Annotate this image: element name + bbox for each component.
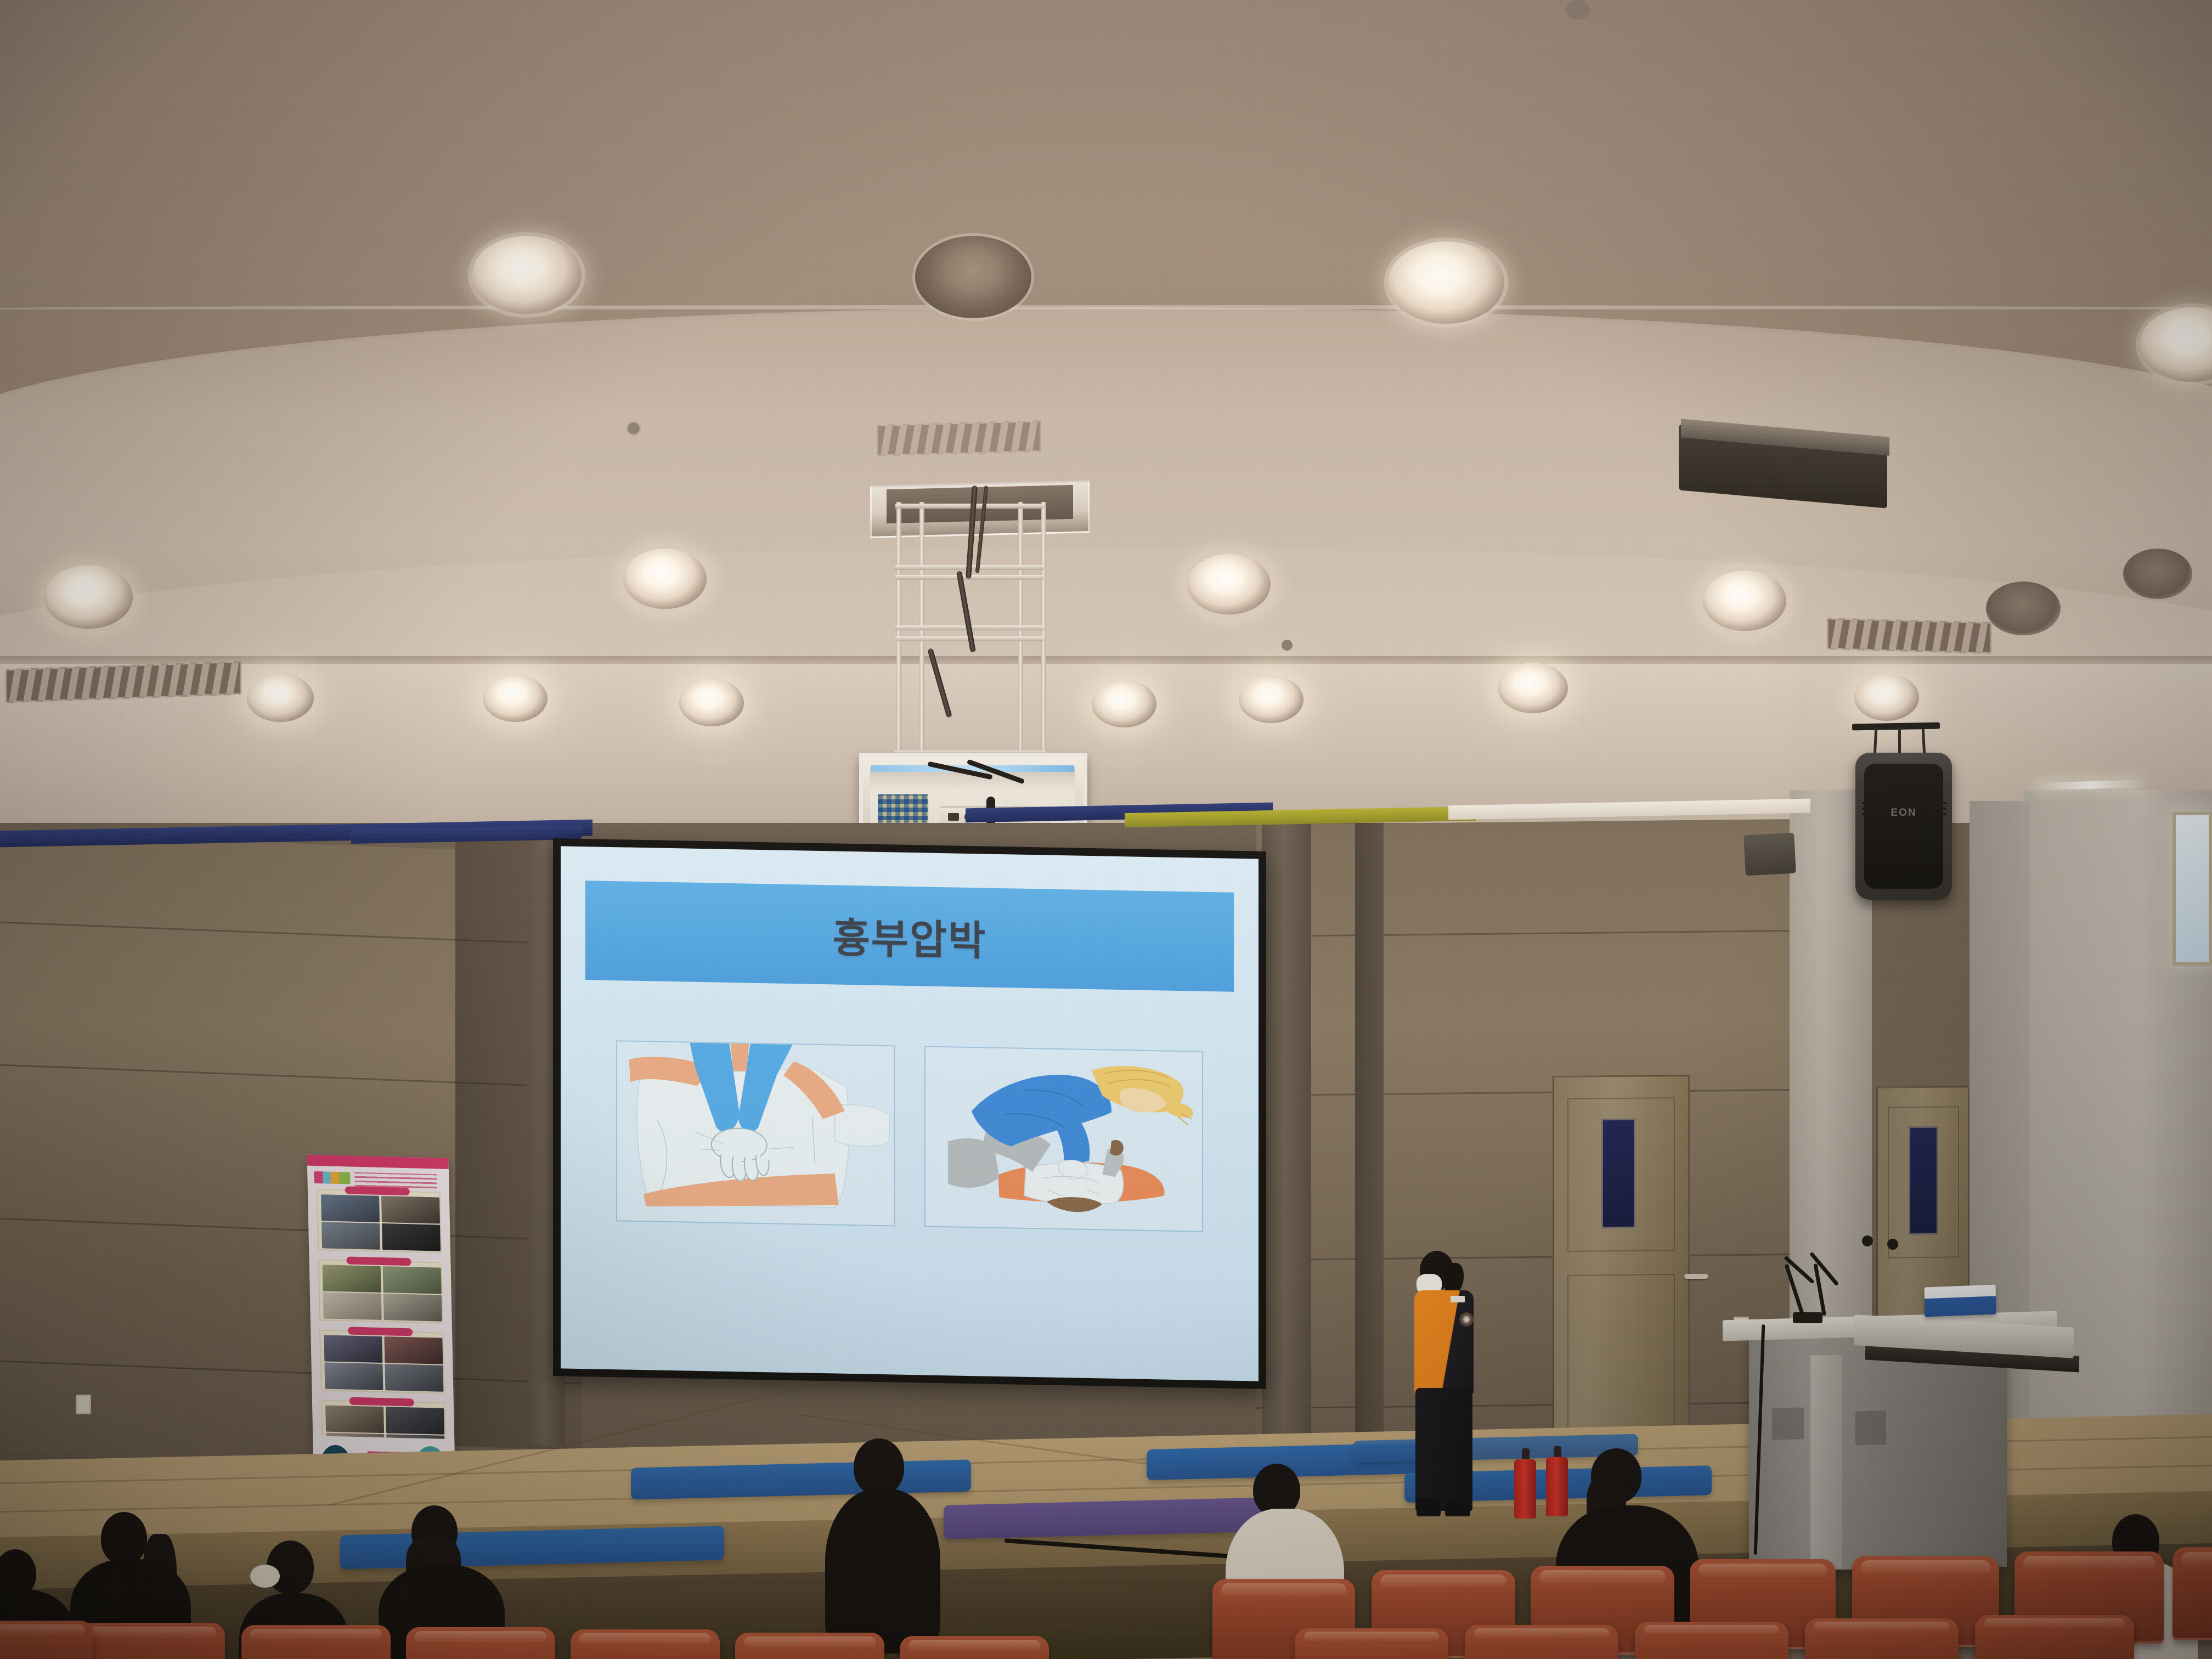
downlight-icon [1498, 663, 1568, 713]
auditorium-seat[interactable] [1465, 1625, 1618, 1659]
speaker-side-port [1862, 808, 1882, 810]
door-handle-icon[interactable] [1684, 1274, 1708, 1279]
downlight-icon [247, 674, 314, 722]
auditorium-seat[interactable] [2172, 1547, 2212, 1640]
speaker-side-port [1927, 813, 1946, 815]
auditorium-seat[interactable] [0, 1621, 93, 1659]
banner-section-tab [349, 1397, 414, 1407]
banner-section-tab [346, 1256, 411, 1266]
microphone-capsule [1862, 1235, 1873, 1246]
glove-box [1925, 1285, 1996, 1317]
instructor-trousers [1415, 1388, 1472, 1511]
ceiling-speaker-icon [915, 236, 1031, 318]
slide-title-text: 흉부압박 [833, 905, 986, 967]
banner-headline-text [354, 1172, 437, 1189]
microphone-base [1793, 1312, 1822, 1323]
auditorium-seat[interactable] [77, 1623, 225, 1659]
extinguisher-valve [1522, 1448, 1530, 1460]
student-torso [825, 1489, 940, 1654]
banner-photo [383, 1266, 442, 1294]
kneeling-rescuer-icon [926, 1047, 1203, 1231]
banner-photo [324, 1335, 382, 1363]
ceiling-soffit-edge [0, 305, 2212, 309]
speaker-side-port [1927, 802, 1946, 804]
banner-photo [383, 1294, 442, 1322]
wall-pillar-right-2 [1355, 823, 1384, 1454]
instructor-uniform-shirt [1414, 1290, 1474, 1395]
wall-pillar-right [1262, 823, 1311, 1454]
downlight-icon [483, 675, 548, 722]
downlight-icon [472, 236, 582, 314]
extinguisher-valve [1554, 1446, 1561, 1458]
door-vision-panel [1601, 1119, 1635, 1229]
downlight-icon [44, 565, 133, 629]
ceiling-sensor-icon [628, 422, 640, 435]
banner-photo-section [319, 1329, 444, 1394]
downlight-icon [1854, 674, 1919, 721]
window-pane [2172, 812, 2212, 966]
banner-photo [386, 1407, 444, 1435]
banner-photo [381, 1196, 440, 1224]
podium [1749, 1331, 2007, 1571]
ceiling-sensor-icon [1282, 640, 1293, 651]
instructor-shoe [1417, 1498, 1441, 1516]
banner-section-tab [345, 1186, 410, 1195]
downlight-icon [2123, 549, 2192, 599]
speaker-side-port [1927, 808, 1946, 810]
lift-rail [1018, 502, 1023, 760]
lift-rail [919, 502, 924, 760]
microphone-capsule [1887, 1239, 1898, 1250]
wall-outlet-icon [76, 1395, 91, 1414]
instructor-shoe [1445, 1499, 1470, 1516]
speaker-brand-label: EON [1883, 808, 1925, 819]
banner-photo [323, 1265, 381, 1293]
downlight-icon [1187, 554, 1271, 614]
auditorium-photo: EON 흉부압박 [0, 0, 2212, 1659]
fire-extinguisher [1546, 1457, 1568, 1516]
uniform-epaulette [1451, 1296, 1465, 1302]
speaker-side-port [1862, 813, 1882, 815]
auditorium-seat[interactable] [735, 1633, 884, 1659]
ceiling-sensor-icon [1566, 0, 1590, 20]
wall-bracket-fixture [1743, 833, 1796, 876]
banner-photo [382, 1223, 441, 1251]
banner-section-tab [348, 1327, 413, 1336]
banner-photo [325, 1406, 384, 1434]
banner-photo [384, 1336, 443, 1364]
downlight-icon [1388, 241, 1504, 324]
banner-photo-section [317, 1189, 442, 1254]
lift-rail [896, 502, 901, 760]
auditorium-seat[interactable] [900, 1636, 1049, 1659]
auditorium-seat[interactable] [1805, 1618, 1959, 1659]
hair-bow-icon [250, 1565, 280, 1588]
speaker-grille [1864, 764, 1943, 889]
banner-logo-icon [314, 1171, 350, 1184]
downlight-icon [1239, 676, 1304, 723]
wall-wood-panel-right [1256, 819, 1805, 1483]
banner-photo [321, 1222, 380, 1250]
lift-crossbar [895, 504, 1043, 509]
hands-on-chest-icon [617, 1042, 894, 1226]
auditorium-seat[interactable] [241, 1625, 391, 1659]
uniform-shoulder-patch-icon [1459, 1312, 1474, 1327]
student-head [101, 1512, 147, 1565]
auditorium-seat[interactable] [571, 1629, 720, 1659]
podium-vent [1855, 1411, 1886, 1446]
lift-rail [1041, 502, 1046, 760]
banner-photo [321, 1194, 380, 1222]
banner-photo-section [318, 1259, 443, 1324]
projection-screen-surface: 흉부압박 [561, 846, 1259, 1381]
hvac-vent [1827, 618, 1991, 654]
downlight-icon [1092, 680, 1156, 727]
downlight-icon [1703, 571, 1786, 631]
auditorium-seat[interactable] [1295, 1628, 1448, 1659]
auditorium-seat[interactable] [1635, 1622, 1788, 1659]
auditorium-seat[interactable] [1975, 1615, 2134, 1659]
slide-illustration-hands-on-chest [616, 1041, 895, 1227]
banner-photo [324, 1362, 383, 1390]
speaker-chain [1898, 727, 1901, 755]
downlight-icon [679, 679, 744, 726]
projector-port [948, 813, 959, 821]
hvac-vent [877, 420, 1041, 456]
fire-extinguisher [1514, 1459, 1536, 1519]
downlight-icon [1986, 582, 2061, 635]
projection-screen-frame: 흉부압박 [553, 838, 1266, 1389]
downlight-icon [623, 549, 707, 609]
slide-illustration-kneeling-rescuer [924, 1046, 1204, 1232]
banner-photo [323, 1292, 382, 1320]
auditorium-seat[interactable] [406, 1627, 555, 1659]
student-head [854, 1438, 904, 1496]
door-vision-panel [1909, 1126, 1938, 1235]
banner-photo [385, 1364, 443, 1392]
podium-vent [1772, 1407, 1804, 1440]
podium-accent-stripe [1810, 1355, 1842, 1569]
speaker-side-port [1862, 802, 1882, 804]
rollup-banner [307, 1155, 456, 1499]
slide-illustration-row [585, 998, 1234, 1355]
slide-title-banner: 흉부압박 [585, 881, 1234, 992]
